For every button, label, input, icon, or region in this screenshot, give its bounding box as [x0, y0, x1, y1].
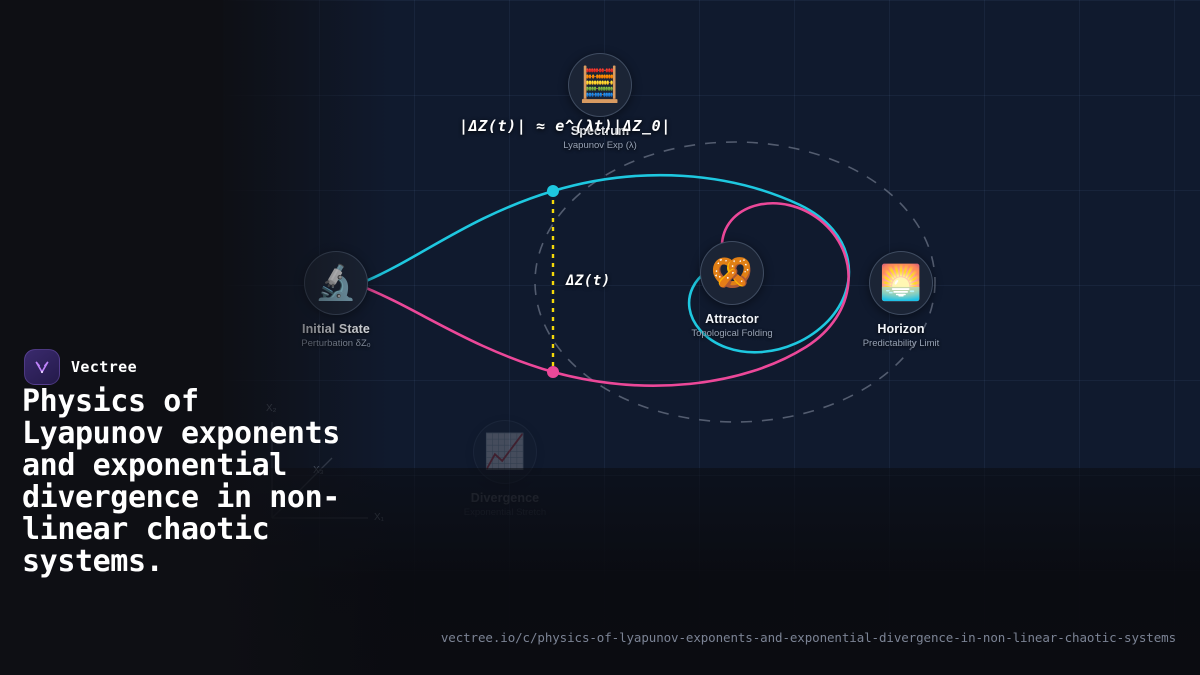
pretzel-icon: 🥨 — [700, 241, 764, 305]
node-horizon-subtitle: Predictability Limit — [831, 338, 971, 349]
cloud-photo-icon: 🌅 — [869, 251, 933, 315]
node-spectrum-subtitle: Lyapunov Exp (λ) — [530, 140, 670, 151]
node-horizon-title: Horizon — [831, 322, 971, 336]
axis-label-x1: X₁ — [374, 512, 384, 523]
node-initial-state-subtitle: Perturbation δZ₀ — [266, 338, 406, 349]
node-horizon[interactable]: 🌅 Horizon Predictability Limit — [831, 251, 971, 349]
vectree-v-glyph — [32, 357, 52, 377]
node-divergence-subtitle: Exponential Stretch — [435, 507, 575, 518]
brand-name: Vectree — [71, 358, 137, 376]
lyapunov-formula: |ΔZ(t)| ≈ e^(λt)|ΔZ_0| — [459, 117, 671, 135]
microscope-icon: 🔬 — [304, 251, 368, 315]
node-initial-state-title: Initial State — [266, 322, 406, 336]
footer-url: vectree.io/c/physics-of-lyapunov-exponen… — [441, 630, 1176, 645]
page-title: Physics of Lyapunov exponents and expone… — [22, 386, 352, 579]
node-spectrum[interactable]: 🧮 Spectrum Lyapunov Exp (λ) — [530, 53, 670, 151]
node-attractor-title: Attractor — [662, 312, 802, 326]
separation-label: ΔZ(t) — [566, 273, 611, 289]
node-attractor[interactable]: 🥨 Attractor Topological Folding — [662, 241, 802, 339]
node-divergence-title: Divergence — [435, 491, 575, 505]
node-divergence[interactable]: 📈 Divergence Exponential Stretch — [435, 420, 575, 518]
abacus-icon: 🧮 — [568, 53, 632, 117]
brand[interactable]: Vectree — [24, 349, 137, 385]
vectree-v-logo-icon — [24, 349, 60, 385]
node-attractor-subtitle: Topological Folding — [662, 328, 802, 339]
screenshot-root: 🧮 Spectrum Lyapunov Exp (λ) 🔬 Initial St… — [0, 0, 1200, 675]
node-initial-state[interactable]: 🔬 Initial State Perturbation δZ₀ — [266, 251, 406, 349]
chart-increasing-icon: 📈 — [473, 420, 537, 484]
